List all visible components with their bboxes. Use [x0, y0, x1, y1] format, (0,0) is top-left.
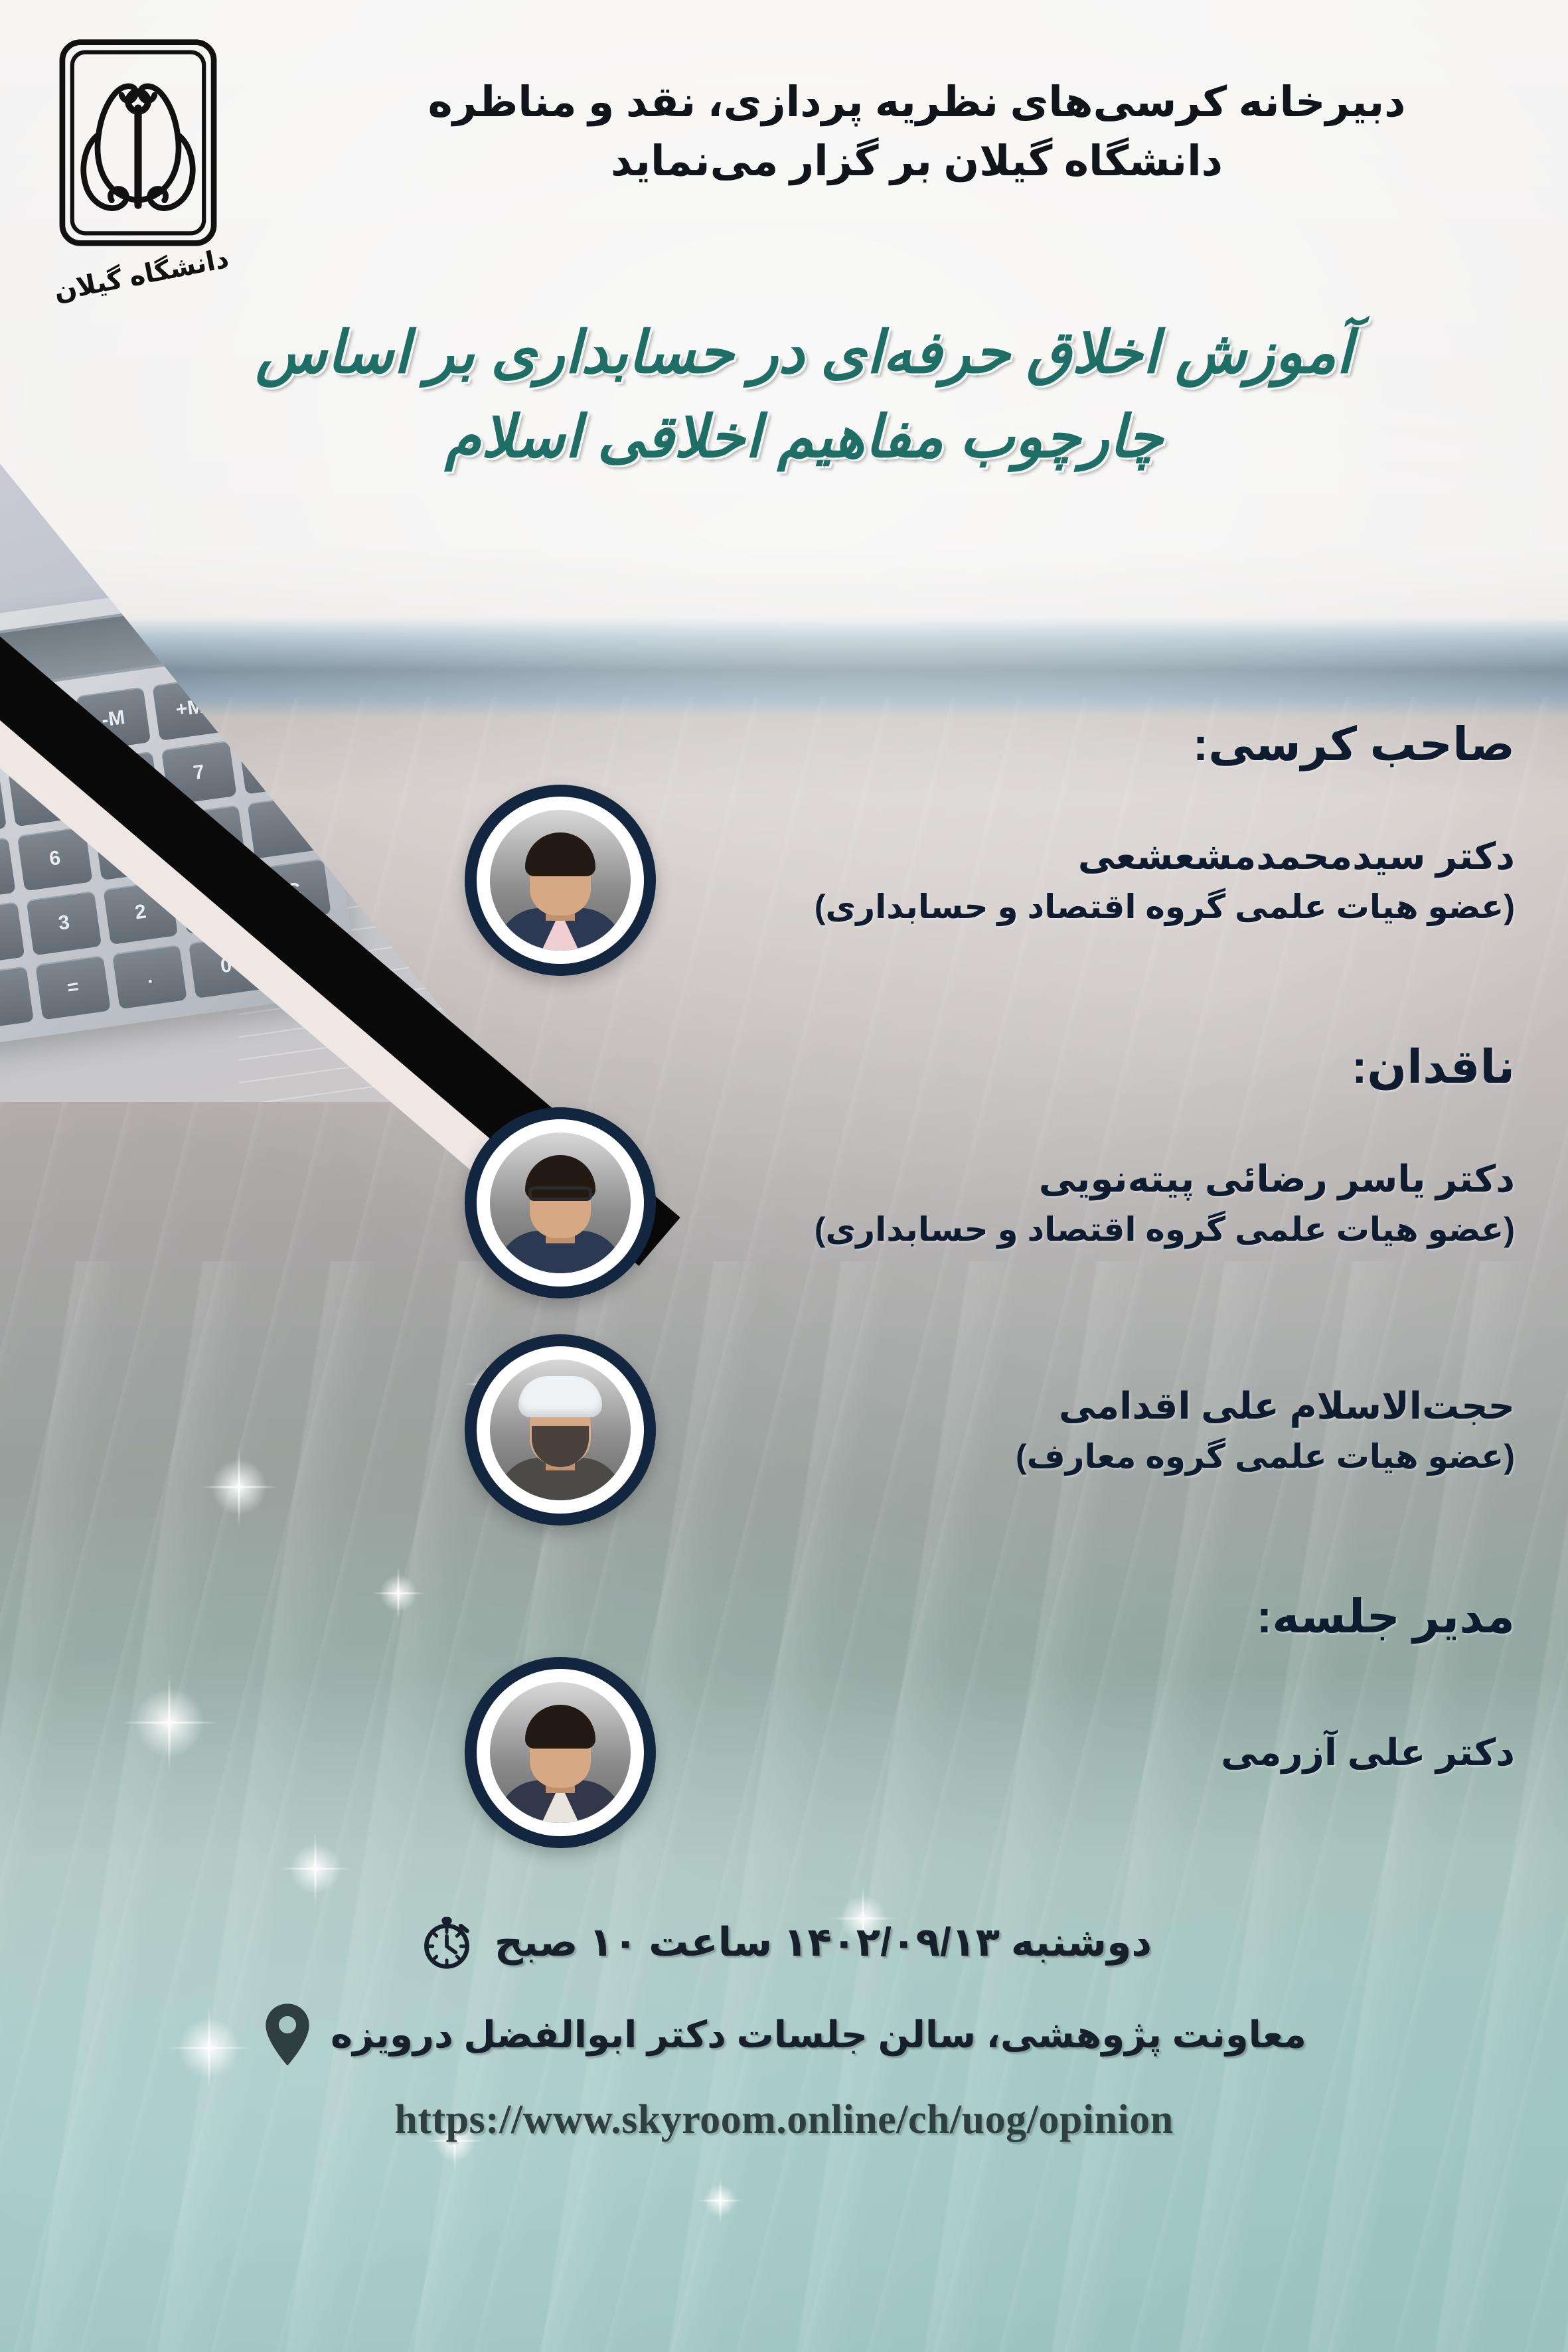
footer-datetime-line: دوشنبه ۱۴۰۲/۰۹/۱۳ ساعت ۱۰ صبح	[80, 1912, 1488, 1973]
avatar	[465, 785, 656, 976]
stopwatch-icon	[416, 1912, 477, 1973]
university-of-guilan-logo-icon	[56, 33, 220, 252]
participants-section: صاحب کرسی: دکتر سیدمحمدمشعشعی (عضو هیات …	[465, 717, 1515, 1848]
map-pin-icon	[262, 2002, 313, 2067]
participant-name: دکتر علی آزرمی	[682, 1725, 1515, 1779]
event-datetime: دوشنبه ۱۴۰۲/۰۹/۱۳ ساعت ۱۰ صبح	[495, 1919, 1152, 1966]
portrait-chair	[490, 810, 631, 951]
poster-header: دبیرخانه کرسی‌های نظریه پردازی، نقد و من…	[345, 73, 1488, 192]
avatar-ring	[477, 1119, 644, 1287]
participant-affiliation: (عضو هیات علمی گروه اقتصاد و حسابداری)	[682, 1206, 1515, 1254]
footer-location-line: معاونت پژوهشی، سالن جلسات دکتر ابوالفضل …	[80, 2002, 1488, 2067]
event-url[interactable]: https://www.skyroom.online/ch/uog/opinio…	[80, 2096, 1488, 2144]
avatar-ring	[477, 797, 644, 964]
portrait-critic-1	[490, 1133, 631, 1273]
calculator-key	[0, 966, 34, 1030]
participant-info: حجت‌الاسلام علی اقدامی (عضو هیات علمی گر…	[682, 1379, 1515, 1481]
section-heading-moderator: مدیر جلسه:	[465, 1589, 1515, 1644]
participant-row-critic-1: دکتر یاسر رضائی پیته‌نویی (عضو هیات علمی…	[465, 1107, 1515, 1298]
participant-name: دکتر سیدمحمدمشعشعی	[682, 829, 1515, 883]
section-heading-critics: ناقدان:	[465, 1040, 1515, 1094]
title-line-1: آموزش اخلاق حرفه‌ای در حسابداری بر اساس	[119, 311, 1488, 395]
portrait-critic-2	[490, 1360, 631, 1500]
participant-row-moderator: دکتر علی آزرمی	[465, 1657, 1515, 1848]
glasses-icon	[528, 1186, 592, 1201]
participant-row-critic-2: حجت‌الاسلام علی اقدامی (عضو هیات علمی گر…	[465, 1334, 1515, 1526]
page-title: آموزش اخلاق حرفه‌ای در حسابداری بر اساس …	[119, 311, 1488, 479]
portrait-illustration	[490, 810, 631, 951]
calculator-key: +	[0, 902, 25, 966]
portrait-illustration	[490, 1133, 631, 1273]
turban-shape	[518, 1376, 602, 1417]
avatar-ring	[477, 1346, 644, 1514]
avatar	[465, 1334, 656, 1526]
poster-footer: دوشنبه ۱۴۰۲/۰۹/۱۳ ساعت ۱۰ صبح معاونت پژو…	[80, 1912, 1488, 2144]
participant-info: دکتر علی آزرمی	[682, 1725, 1515, 1779]
event-poster: MU M+ M- ÷ 7 8 9 × 4 5 6 − C 1	[0, 0, 1568, 2352]
calculator-key: .	[112, 945, 187, 1009]
calculator-key: −	[0, 837, 16, 902]
avatar	[465, 1107, 656, 1298]
header-line-1: دبیرخانه کرسی‌های نظریه پردازی، نقد و من…	[345, 73, 1488, 132]
portrait-illustration	[490, 1682, 631, 1823]
participant-row-chair: دکتر سیدمحمدمشعشعی (عضو هیات علمی گروه ا…	[465, 785, 1515, 976]
section-heading-chair: صاحب کرسی:	[465, 717, 1515, 771]
university-logo-block: دانشگاه گیلان	[32, 33, 244, 287]
avatar-ring	[477, 1669, 644, 1836]
title-line-2: چارچوب مفاهیم اخلاقی اسلام	[119, 395, 1488, 479]
participant-info: دکتر سیدمحمدمشعشعی (عضو هیات علمی گروه ا…	[682, 829, 1515, 931]
portrait-illustration	[490, 1360, 631, 1500]
participant-name: حجت‌الاسلام علی اقدامی	[682, 1379, 1515, 1433]
portrait-moderator	[490, 1682, 631, 1823]
avatar	[465, 1657, 656, 1848]
calculator-key: ×	[0, 773, 7, 837]
event-location: معاونت پژوهشی، سالن جلسات دکتر ابوالفضل …	[331, 2013, 1306, 2057]
participant-name: دکتر یاسر رضائی پیته‌نویی	[682, 1152, 1515, 1206]
calculator-key: 3	[27, 891, 102, 955]
header-line-2: دانشگاه گیلان بر گزار می‌نماید	[345, 132, 1488, 191]
participant-info: دکتر یاسر رضائی پیته‌نویی (عضو هیات علمی…	[682, 1152, 1515, 1254]
participant-affiliation: (عضو هیات علمی گروه اقتصاد و حسابداری)	[682, 883, 1515, 931]
participant-affiliation: (عضو هیات علمی گروه معارف)	[682, 1433, 1515, 1481]
calculator-key: =	[36, 955, 111, 1020]
